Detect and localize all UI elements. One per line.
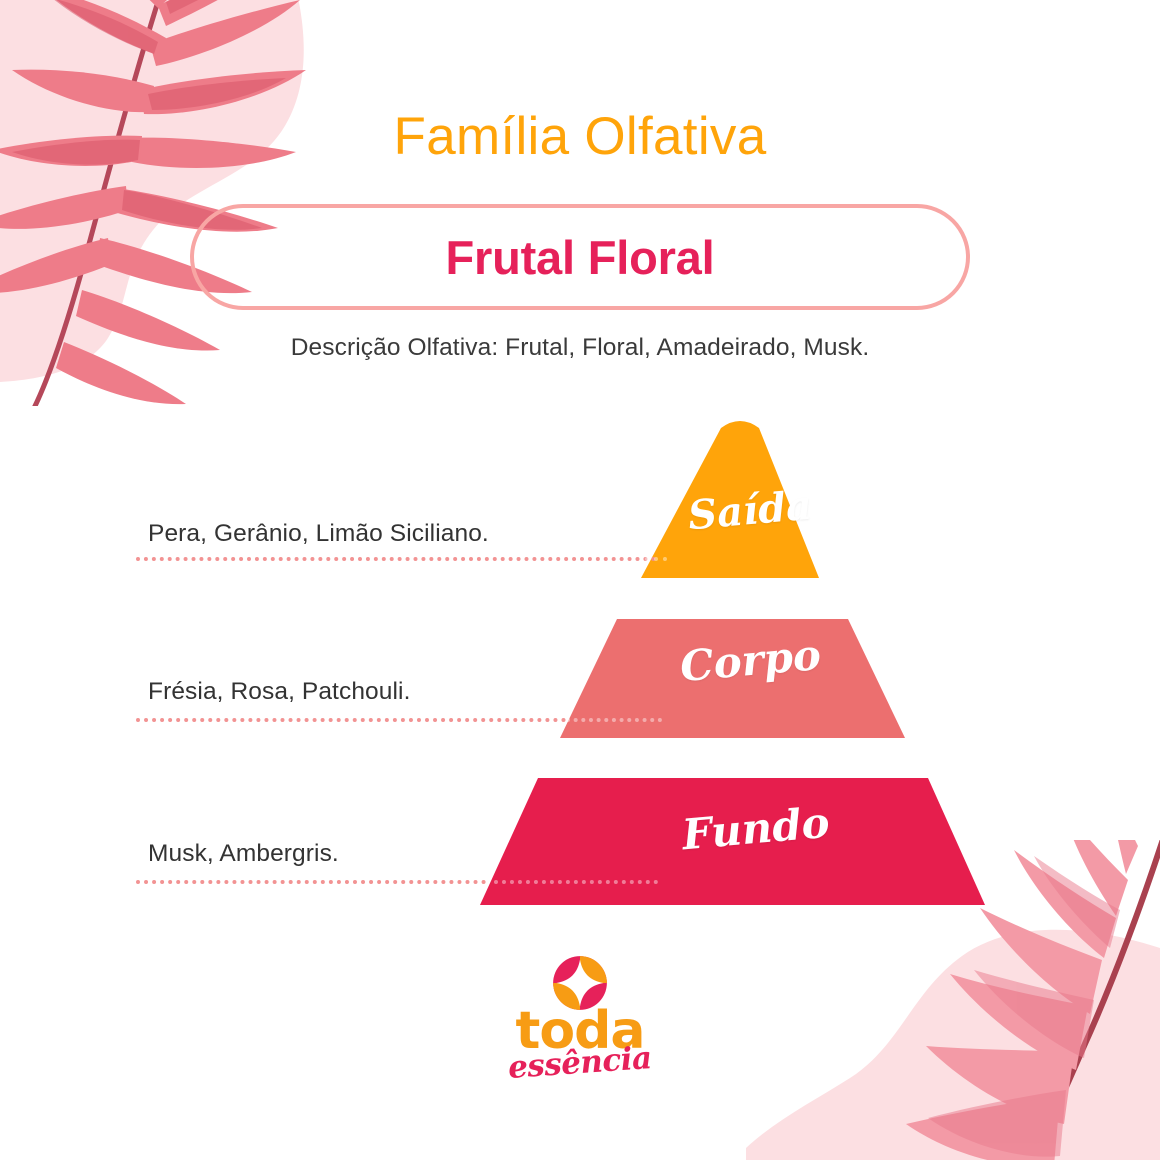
leader-line-fundo (136, 880, 486, 888)
tier-notes-corpo: Frésia, Rosa, Patchouli. (148, 678, 411, 706)
tier-notes-saida: Pera, Gerânio, Limão Siciliano. (148, 520, 489, 548)
leader-line-fundo-overlay (486, 880, 658, 888)
leader-line-corpo-overlay (566, 718, 662, 726)
tier-notes-fundo: Musk, Ambergris. (148, 840, 339, 868)
leader-line-saida (136, 557, 656, 565)
brand-logo: toda essência (0, 955, 1160, 1081)
leader-line-saida-overlay (645, 557, 667, 565)
infographic-canvas: Família Olfativa Frutal Floral Descrição… (0, 0, 1160, 1160)
leader-line-corpo (136, 718, 566, 726)
